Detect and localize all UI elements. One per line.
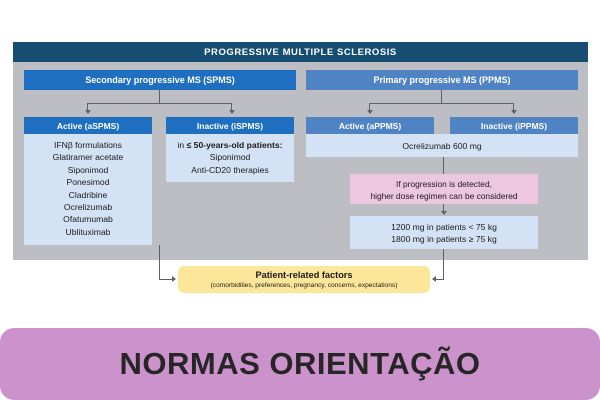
dose-escalation-box: 1200 mg in patients < 75 kg1800 mg in pa… (350, 216, 538, 249)
ppms-header-box: Primary progressive MS (PPMS) (306, 70, 578, 90)
spms-connector-left-arrow (85, 110, 91, 114)
ppms-connector-bar (369, 103, 513, 104)
text-line: 1800 mg in patients ≥ 75 kg (354, 233, 534, 245)
ppms-dose-connector-arrow (441, 211, 447, 215)
ispms-condition-prefix: in (177, 140, 186, 150)
bottom-banner: NORMAS ORIENTAÇÃO (0, 328, 600, 400)
diagram-title-bar: PROGRESSIVE MULTIPLE SCLEROSIS (13, 42, 588, 62)
patient-factors-title: Patient-related factors (178, 269, 430, 281)
aspms-treatment-list: IFNβ formulationsGlatiramer acetateSipon… (24, 134, 152, 245)
text-line: Siponimod (28, 164, 148, 176)
ispms-condition-bold: ≤ 50-years-old patients: (187, 140, 283, 150)
text-line: Anti-CD20 therapies (170, 164, 290, 176)
text-line: Ofatumumab (28, 213, 148, 225)
appms-header-box: Active (aPPMS) (306, 117, 434, 134)
patient-connector-left-stem (159, 245, 160, 279)
text-line: 1200 mg in patients < 75 kg (354, 221, 534, 233)
text-line: Ocrelizumab (28, 201, 148, 213)
bottom-banner-text: NORMAS ORIENTAÇÃO (120, 346, 481, 382)
patient-connector-right-bar (436, 279, 444, 280)
spms-connector-bar (87, 103, 231, 104)
ppms-connector-right-arrow (511, 110, 517, 114)
aspms-header-box: Active (aSPMS) (24, 117, 152, 134)
text-line: IFNβ formulations (28, 139, 148, 151)
spms-connector-right-arrow (229, 110, 235, 114)
ispms-header-box: Inactive (iSPMS) (166, 117, 294, 134)
patient-connector-left-bar (159, 279, 173, 280)
ppms-treatment-box: Ocrelizumab 600 mg (306, 134, 578, 157)
text-line: Siponimod (170, 151, 290, 163)
text-line: Ponesimod (28, 176, 148, 188)
ppms-connector-left-arrow (367, 110, 373, 114)
text-line: Glatiramer acetate (28, 151, 148, 163)
text-line: Ublituximab (28, 226, 148, 238)
patient-connector-right-stem (443, 249, 444, 279)
ppms-connector-stem (441, 90, 442, 103)
patient-connector-right-arrow (432, 276, 436, 282)
spms-header-box: Secondary progressive MS (SPMS) (24, 70, 296, 90)
patient-connector-left-arrow (172, 276, 176, 282)
text-line: Cladribine (28, 189, 148, 201)
ispms-condition-line: in ≤ 50-years-old patients: (170, 139, 290, 151)
progression-note-box: If progression is detected,higher dose r… (350, 174, 538, 204)
ippms-header-box: Inactive (iPPMS) (450, 117, 578, 134)
patient-factors-subtitle: (comorbidities, preferences, pregnancy, … (178, 281, 430, 291)
spms-connector-stem (159, 90, 160, 103)
ispms-treatment-list: in ≤ 50-years-old patients: SiponimodAnt… (166, 134, 294, 182)
ispms-treatments: SiponimodAnti-CD20 therapies (170, 151, 290, 176)
ppms-dose-connector-1 (443, 157, 444, 174)
text-line: If progression is detected, (350, 178, 538, 190)
patient-factors-box: Patient-related factors (comorbidities, … (178, 266, 430, 293)
text-line: higher dose regimen can be considered (350, 190, 538, 202)
